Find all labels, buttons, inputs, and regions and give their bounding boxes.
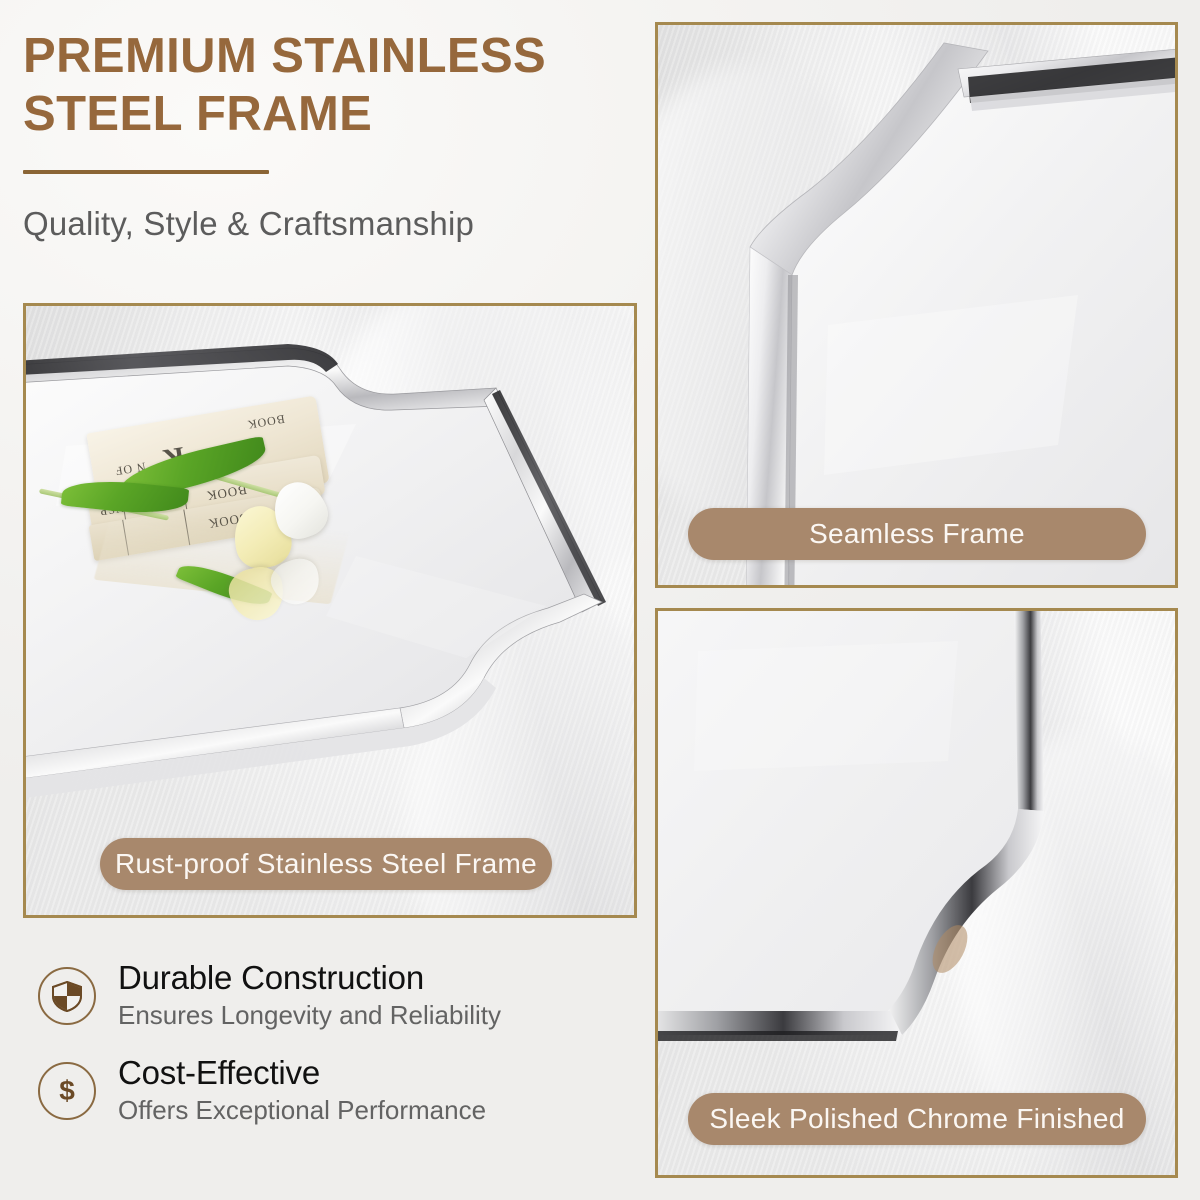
mirror-tray: K N OF BOOK B INSP BOOK BOOK (26, 306, 634, 915)
photo-chrome-edge-closeup (658, 611, 1175, 1175)
tray-shape-icon (26, 306, 634, 915)
feature-item-durable-construction: Durable Construction Ensures Longevity a… (38, 960, 598, 1031)
feature-subtitle: Ensures Longevity and Reliability (118, 1000, 501, 1031)
feature-text-block: Cost-Effective Offers Exceptional Perfor… (118, 1055, 486, 1126)
dollar-icon: $ (38, 1062, 96, 1120)
svg-text:$: $ (59, 1075, 75, 1106)
feature-subtitle: Offers Exceptional Performance (118, 1095, 486, 1126)
chrome-dark-core (658, 1031, 898, 1041)
product-photo-main: K N OF BOOK B INSP BOOK BOOK (23, 303, 637, 918)
caption-text: Seamless Frame (809, 518, 1025, 550)
product-photo-seamless-frame (655, 22, 1178, 588)
mirror-edge-shape-icon (658, 611, 1175, 1175)
photo-frame-corner-closeup (658, 25, 1175, 585)
chrome-edge-vertical (1014, 611, 1044, 811)
mirror-corner-shape-icon (658, 25, 1175, 585)
title-divider (23, 170, 269, 174)
caption-seamless-frame: Seamless Frame (688, 508, 1146, 560)
feature-list: Durable Construction Ensures Longevity a… (38, 960, 598, 1150)
feature-title: Durable Construction (118, 960, 501, 997)
header: PREMIUM STAINLESS STEEL FRAME Quality, S… (23, 28, 663, 243)
caption-text: Rust-proof Stainless Steel Frame (115, 848, 537, 880)
shield-icon (38, 967, 96, 1025)
page-title: PREMIUM STAINLESS STEEL FRAME (23, 28, 663, 144)
caption-sleek-polished-chrome: Sleek Polished Chrome Finished (688, 1093, 1146, 1145)
photo-mirror-tray: K N OF BOOK B INSP BOOK BOOK (26, 306, 634, 915)
caption-text: Sleek Polished Chrome Finished (709, 1103, 1124, 1135)
feature-title: Cost-Effective (118, 1055, 486, 1092)
feature-item-cost-effective: $ Cost-Effective Offers Exceptional Perf… (38, 1055, 598, 1126)
page-subtitle: Quality, Style & Craftsmanship (23, 204, 663, 244)
book-text: BOOK (246, 411, 286, 432)
caption-rust-proof-frame: Rust-proof Stainless Steel Frame (100, 838, 552, 890)
feature-text-block: Durable Construction Ensures Longevity a… (118, 960, 501, 1031)
